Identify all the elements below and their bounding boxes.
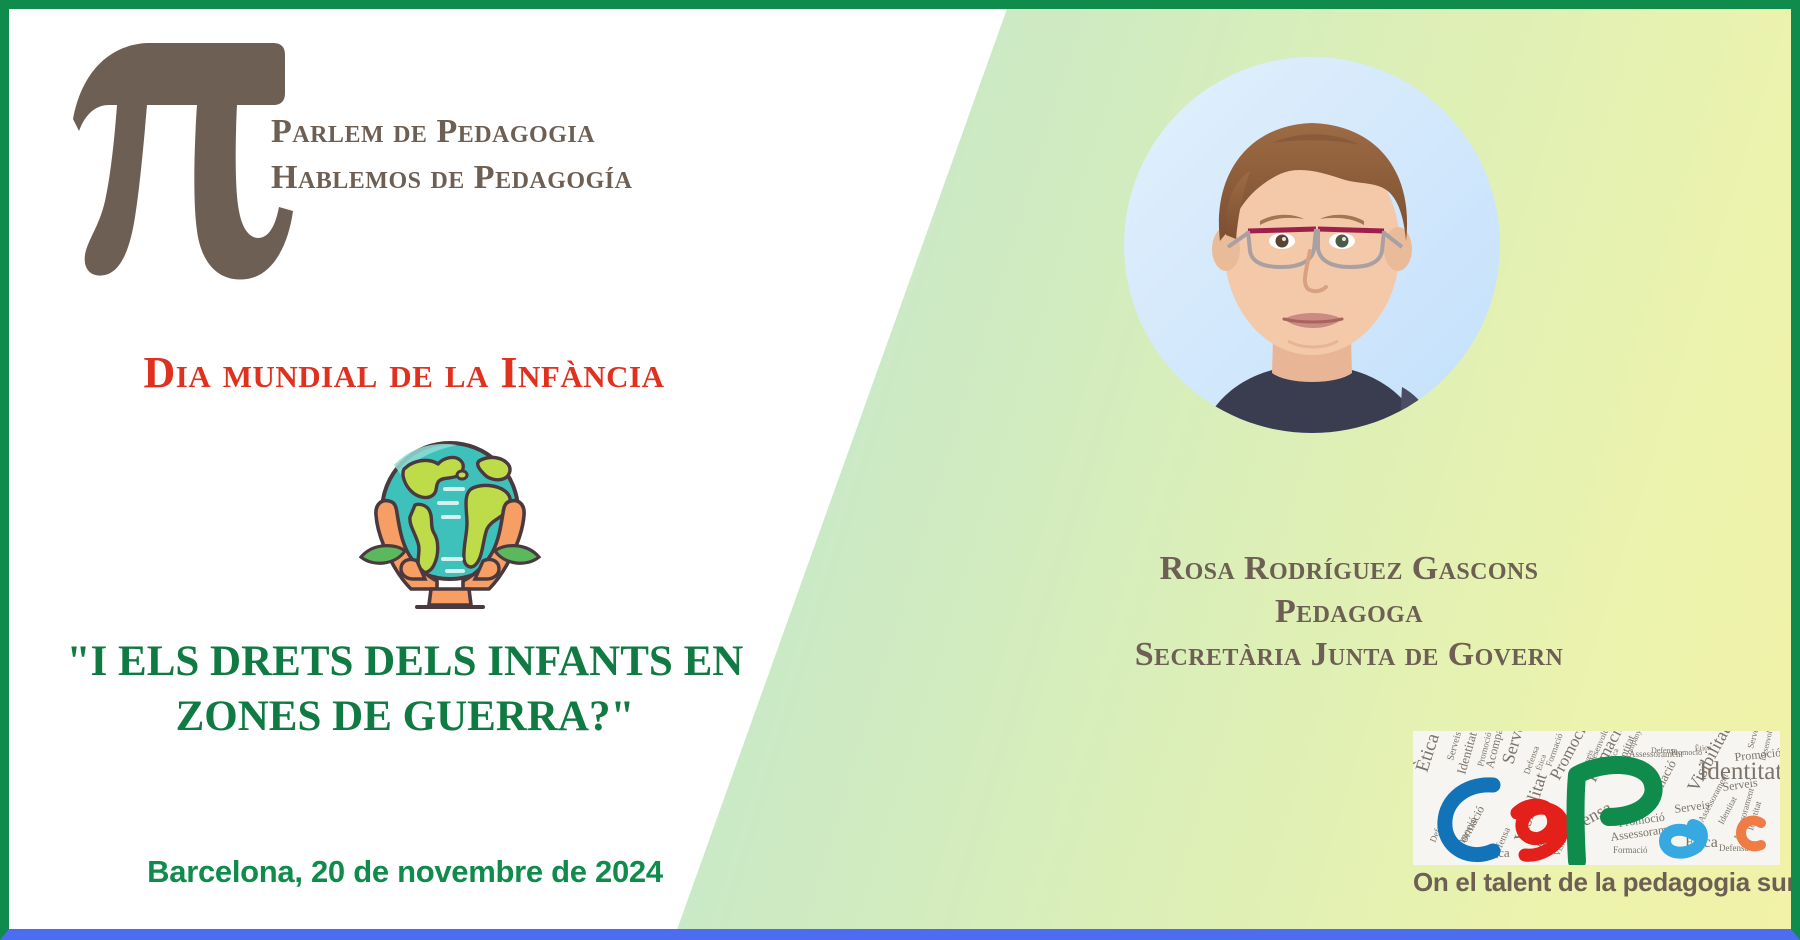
quote-line-2: ZONES DE GUERRA?" — [9, 689, 801, 744]
copec-wordcloud: Ètica Serveis Identitat Promoció Acompan… — [1413, 731, 1780, 865]
quote-line-1: "I ELS DRETS DELS INFANTS EN — [9, 634, 801, 689]
speaker-role: Pedagoga — [949, 590, 1749, 633]
speaker-portrait — [1102, 35, 1522, 455]
speaker-info: Rosa Rodríguez Gascons Pedagoga Secretàr… — [949, 547, 1749, 677]
event-theme-quote: "I ELS DRETS DELS INFANTS EN ZONES DE GU… — [9, 634, 801, 744]
copec-tagline: On el talent de la pedagogia suma! — [1413, 867, 1780, 898]
speaker-position: Secretària Junta de Govern — [949, 633, 1749, 676]
pi-symbol-icon — [61, 31, 301, 289]
wordmark-spanish: Hablemos de Pedagogía — [271, 159, 632, 196]
brand-wordmark: Parlem de Pedagogia Hablemos de Pedagogí… — [271, 109, 791, 201]
speaker-name: Rosa Rodríguez Gascons — [949, 547, 1749, 590]
wordmark-catalan: Parlem de Pedagogia — [271, 113, 595, 150]
headline-world-childrens-day: Dia mundial de la Infància — [9, 347, 799, 398]
poster-canvas: Parlem de Pedagogia Hablemos de Pedagogí… — [0, 0, 1800, 940]
globe-in-hands-icon — [339, 433, 561, 613]
svg-text:Formació: Formació — [1613, 845, 1648, 855]
copec-logo: Ètica Serveis Identitat Promoció Acompan… — [1413, 731, 1780, 903]
event-date-location: Barcelona, 20 de novembre de 2024 — [9, 854, 801, 890]
